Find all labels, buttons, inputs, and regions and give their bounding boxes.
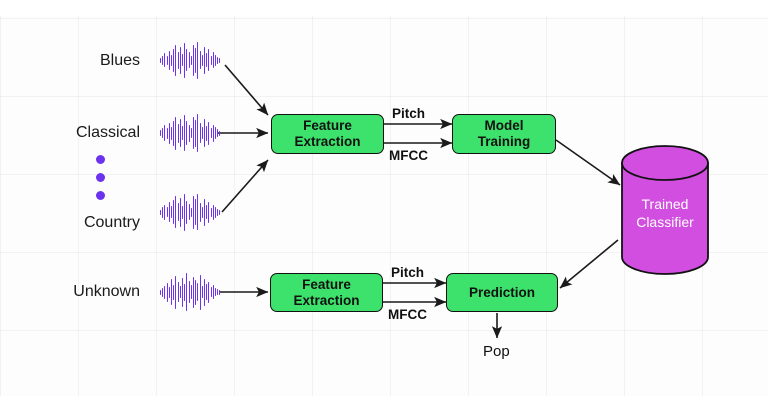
waveform-bar	[164, 286, 165, 299]
waveform-bar	[195, 280, 196, 305]
waveform-bar	[171, 206, 172, 218]
waveform-bar	[211, 56, 212, 65]
waveform-bar	[200, 123, 201, 143]
waveform-bar	[169, 287, 170, 298]
waveform-bar	[215, 127, 216, 139]
trained-classifier-label: Trained Classifier	[622, 196, 708, 231]
waveform-bar	[195, 48, 196, 73]
waveform-bar	[167, 128, 168, 139]
waveform-bar	[178, 124, 179, 143]
waveform-bar	[173, 200, 174, 224]
waveform-bar	[184, 284, 185, 301]
waveform-bar	[160, 210, 161, 215]
node-feature-extraction-inference[interactable]: Feature Extraction	[270, 273, 383, 312]
feature-extraction-line1: Feature	[294, 118, 360, 134]
waveform-icon-unknown	[160, 270, 220, 314]
waveform-bar	[160, 290, 161, 295]
waveform-bar	[213, 285, 214, 299]
waveform-bar	[193, 117, 194, 149]
waveform-bar	[189, 52, 190, 68]
waveform-bar	[215, 207, 216, 218]
waveform-bar	[219, 290, 220, 295]
waveform-bar	[208, 49, 209, 71]
waveform-bar	[197, 114, 198, 152]
waveform-bar	[173, 285, 174, 300]
waveform-bar	[180, 119, 181, 147]
waveform-bar	[202, 127, 203, 139]
waveform-bar	[164, 125, 165, 141]
waveform-bar	[197, 283, 198, 301]
waveform-bar	[204, 279, 205, 306]
waveform-bar	[162, 56, 163, 65]
waveform-bar	[182, 126, 183, 140]
waveform-bar	[171, 279, 172, 305]
waveform-bar	[182, 206, 183, 219]
edge-label-mfcc-inference: MFCC	[388, 308, 427, 322]
waveform-bar	[171, 127, 172, 140]
waveform-bar	[206, 53, 207, 67]
waveform-bar	[217, 57, 218, 64]
waveform-bar	[184, 194, 185, 231]
waveform-bar	[173, 49, 174, 72]
waveform-bar	[213, 125, 214, 142]
waveform-bar	[175, 45, 176, 76]
waveform-bar	[178, 282, 179, 302]
node-feature-extraction-training[interactable]: Feature Extraction	[271, 114, 384, 154]
arrow-classifier-to-prediction	[560, 240, 618, 288]
waveform-bar	[160, 58, 161, 63]
feature-extraction-line2: Extraction	[294, 134, 360, 150]
classifier-line2: Classifier	[622, 214, 708, 232]
waveform-bar	[204, 119, 205, 147]
waveform-bar	[202, 207, 203, 218]
waveform-bar	[162, 288, 163, 297]
waveform-bar	[206, 205, 207, 219]
waveform-bar	[180, 286, 181, 298]
waveform-bar	[178, 52, 179, 69]
waveform-bar	[208, 122, 209, 145]
waveform-bar	[189, 281, 190, 303]
waveform-icon-country	[160, 190, 220, 234]
waveform-bar	[171, 55, 172, 66]
waveform-bar	[213, 52, 214, 68]
waveform-bar	[211, 208, 212, 217]
waveform-bar	[162, 128, 163, 138]
waveform-bar	[211, 287, 212, 297]
waveform-bar	[162, 207, 163, 218]
edge-label-pitch-training: Pitch	[392, 107, 425, 121]
waveform-bar	[189, 125, 190, 142]
input-label-unknown: Unknown	[30, 284, 140, 300]
genre-label-classical: Classical	[40, 125, 140, 141]
waveform-bar	[193, 45, 194, 76]
ellipsis-dot	[96, 191, 105, 200]
ellipsis-dot	[96, 173, 105, 182]
waveform-bar	[169, 51, 170, 70]
waveform-bar	[200, 51, 201, 69]
waveform-bar	[200, 275, 201, 310]
waveform-bar	[184, 43, 185, 78]
waveform-bar	[186, 121, 187, 145]
waveform-bar	[175, 196, 176, 228]
waveform-bar	[217, 289, 218, 295]
output-label-pop: Pop	[483, 344, 510, 359]
waveform-bar	[178, 203, 179, 221]
model-training-line1: Model	[478, 118, 531, 134]
waveform-bar	[167, 56, 168, 65]
waveform-icon-blues	[160, 38, 220, 82]
waveform-bar	[191, 208, 192, 217]
classifier-line1: Trained	[622, 196, 708, 214]
arrow-blues-to-feature-extraction	[225, 65, 268, 115]
feature-extraction-line1: Feature	[293, 277, 359, 293]
waveform-bar	[164, 205, 165, 220]
waveform-bar	[206, 284, 207, 300]
waveform-bar	[164, 53, 165, 67]
waveform-bar	[200, 203, 201, 222]
waveform-bar	[191, 128, 192, 138]
diagram-canvas: Blues Classical Country Unknown Feature …	[0, 0, 768, 402]
waveform-bar	[197, 194, 198, 230]
waveform-bar	[211, 128, 212, 138]
waveform-bar	[180, 47, 181, 74]
waveform-bar	[169, 123, 170, 144]
genre-label-blues: Blues	[40, 53, 140, 69]
edge-label-mfcc-training: MFCC	[389, 149, 428, 163]
waveform-bar	[219, 58, 220, 63]
waveform-bar	[193, 277, 194, 308]
waveform-bar	[202, 286, 203, 298]
waveform-bar	[204, 47, 205, 74]
waveform-bar	[173, 121, 174, 146]
waveform-bar	[195, 199, 196, 225]
edge-label-pitch-inference: Pitch	[391, 266, 424, 280]
waveform-bar	[215, 55, 216, 66]
ellipsis-dots	[96, 155, 105, 200]
node-model-training[interactable]: Model Training	[452, 114, 556, 154]
waveform-bar	[186, 49, 187, 71]
waveform-bar	[184, 115, 185, 151]
waveform-bar	[175, 276, 176, 309]
waveform-bar	[217, 129, 218, 137]
waveform-bar	[191, 56, 192, 65]
prediction-label: Prediction	[469, 285, 535, 301]
waveform-bar	[219, 210, 220, 215]
waveform-bar	[175, 117, 176, 150]
waveform-bar	[213, 205, 214, 220]
waveform-bar	[167, 283, 168, 302]
waveform-bar	[204, 199, 205, 226]
waveform-bar	[182, 54, 183, 66]
waveform-bar	[197, 42, 198, 79]
waveform-bar	[202, 55, 203, 66]
waveform-bar	[193, 196, 194, 229]
waveform-bar	[208, 202, 209, 223]
waveform-bar	[217, 209, 218, 216]
waveform-bar	[186, 273, 187, 311]
arrow-country-to-feature-extraction	[222, 160, 268, 212]
waveform-bar	[167, 207, 168, 217]
genre-label-country: Country	[40, 215, 140, 231]
waveform-icon-classical	[160, 111, 220, 155]
waveform-bar	[215, 288, 216, 296]
waveform-bar	[160, 130, 161, 136]
waveform-bar	[191, 285, 192, 299]
node-prediction[interactable]: Prediction	[446, 273, 558, 312]
model-training-line2: Training	[478, 134, 531, 150]
waveform-bar	[208, 282, 209, 303]
waveform-bar	[180, 198, 181, 227]
waveform-bar	[219, 131, 220, 136]
waveform-bar	[189, 204, 190, 220]
waveform-bar	[195, 120, 196, 147]
feature-extraction-line2: Extraction	[293, 293, 359, 309]
waveform-bar	[206, 126, 207, 141]
waveform-bar	[186, 201, 187, 224]
waveform-bar	[182, 278, 183, 307]
ellipsis-dot	[96, 155, 105, 164]
waveform-bar	[169, 202, 170, 222]
arrow-training-to-classifier	[556, 140, 620, 185]
